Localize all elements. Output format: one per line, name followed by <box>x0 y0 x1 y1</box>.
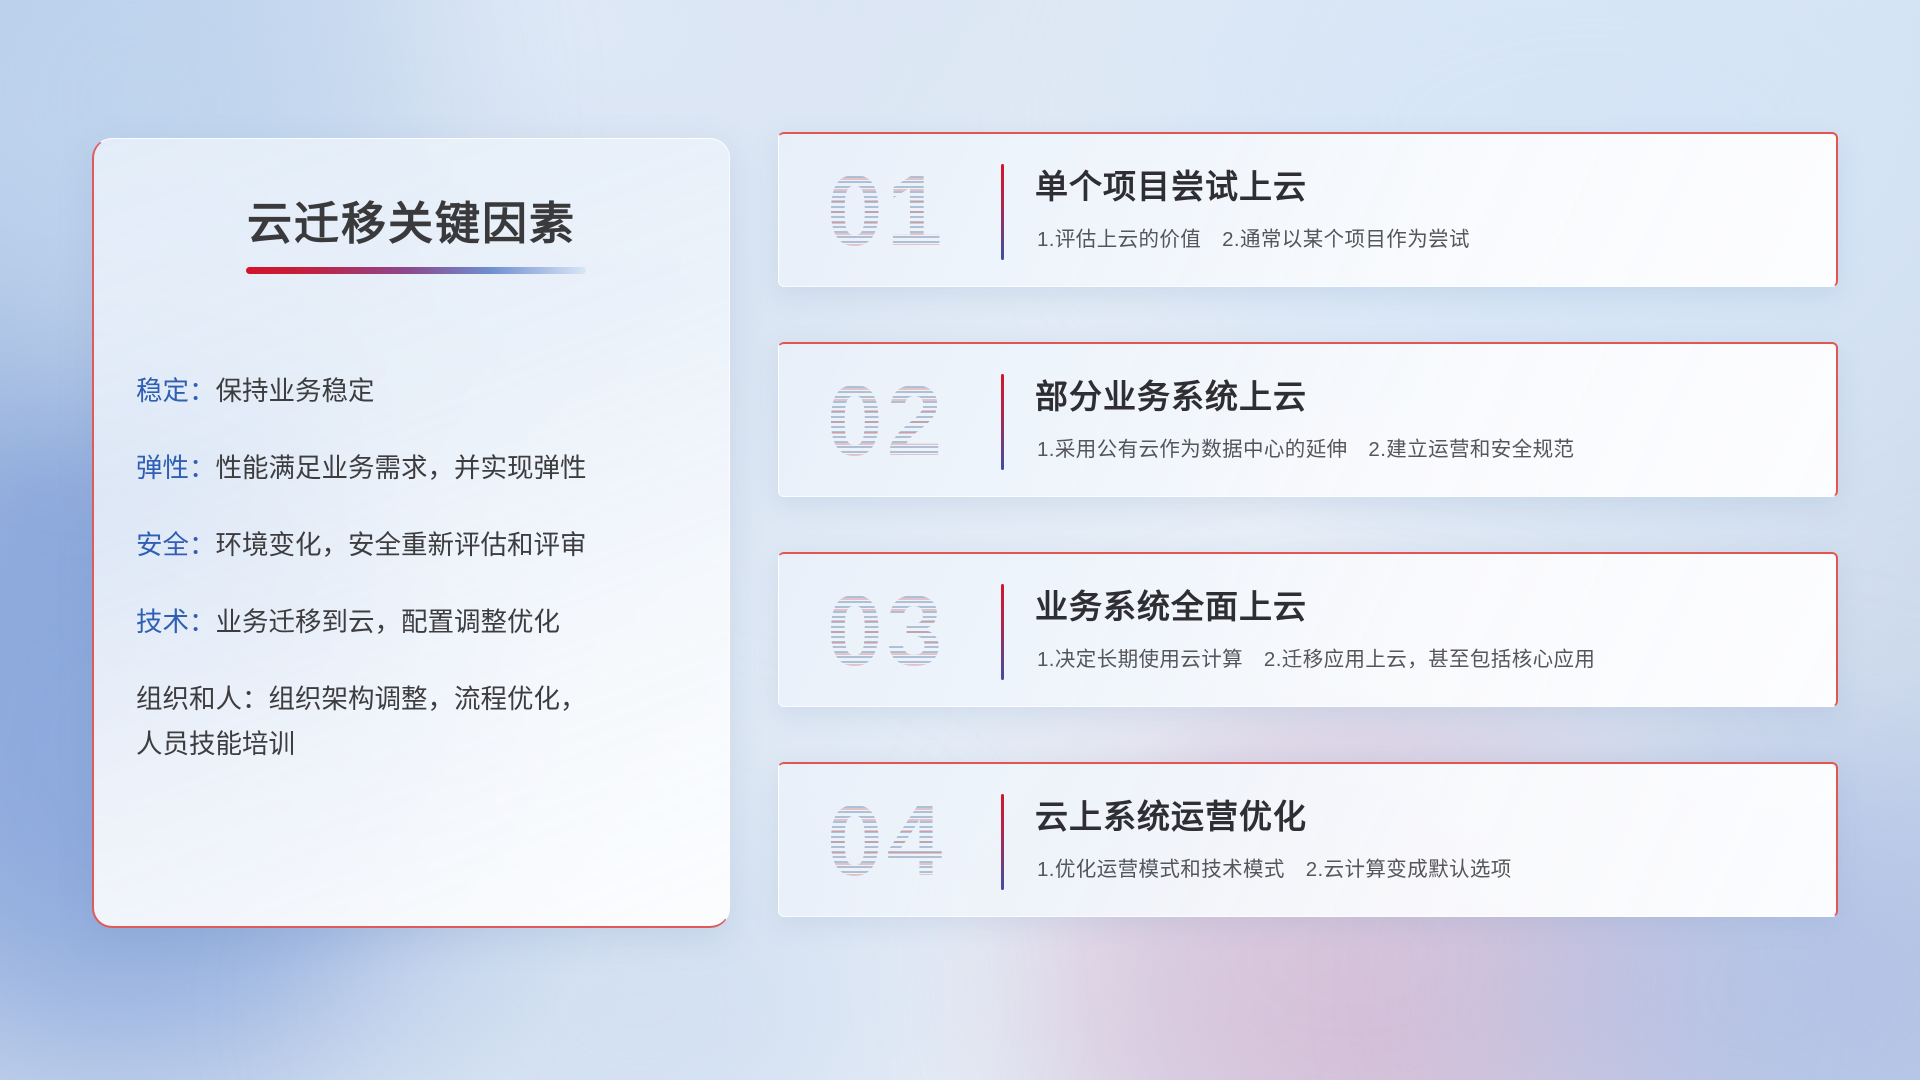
stage-description: 1.评估上云的价值 2.通常以某个项目作为尝试 <box>1037 222 1470 252</box>
factor-list: 稳定：保持业务稳定 弹性：性能满足业务需求，并实现弹性 安全：环境变化，安全重新… <box>136 371 699 801</box>
stage-number: 03 <box>827 576 946 686</box>
stage-divider-bar <box>1001 374 1004 470</box>
stage-divider-bar <box>1001 584 1004 680</box>
factor-label: 组织和人： <box>136 684 269 714</box>
factor-item-elasticity: 弹性：性能满足业务需求，并实现弹性 <box>136 448 699 489</box>
factor-text: 性能满足业务需求，并实现弹性 <box>216 453 587 483</box>
factor-label: 稳定： <box>136 376 216 406</box>
factor-text: 组织架构调整，流程优化， <box>269 684 587 714</box>
stage-card[interactable]: 04 04 云上系统运营优化 1.优化运营模式和技术模式 2.云计算变成默认选项 <box>778 762 1838 917</box>
stage-card-list: 01 01 单个项目尝试上云 1.评估上云的价值 2.通常以某个项目作为尝试 0… <box>778 132 1838 917</box>
factor-text: 业务迁移到云，配置调整优化 <box>216 607 561 637</box>
stage-heading: 单个项目尝试上云 <box>1035 160 1307 208</box>
stage-description: 1.采用公有云作为数据中心的延伸 2.建立运营和安全规范 <box>1037 432 1574 462</box>
stage-card[interactable]: 01 01 单个项目尝试上云 1.评估上云的价值 2.通常以某个项目作为尝试 <box>778 132 1838 287</box>
stage-number: 04 <box>827 786 946 896</box>
factor-item-security: 安全：环境变化，安全重新评估和评审 <box>136 525 699 566</box>
stage-heading: 云上系统运营优化 <box>1035 790 1307 838</box>
key-factors-panel: 云迁移关键因素 稳定：保持业务稳定 弹性：性能满足业务需求，并实现弹性 安全：环… <box>92 138 730 928</box>
factor-label: 技术： <box>136 607 216 637</box>
factor-text-continued: 人员技能培训 <box>136 729 295 759</box>
factor-item-organization-line2: 人员技能培训 <box>136 724 699 765</box>
slide-canvas: 云迁移关键因素 稳定：保持业务稳定 弹性：性能满足业务需求，并实现弹性 安全：环… <box>0 0 1920 1080</box>
stage-description: 1.优化运营模式和技术模式 2.云计算变成默认选项 <box>1037 852 1512 882</box>
stage-heading: 业务系统全面上云 <box>1035 580 1307 628</box>
factor-item-organization: 组织和人：组织架构调整，流程优化， <box>136 679 699 720</box>
stage-description: 1.决定长期使用云计算 2.迁移应用上云，甚至包括核心应用 <box>1037 642 1595 672</box>
stage-number: 01 <box>827 156 946 266</box>
factor-text: 保持业务稳定 <box>216 376 375 406</box>
stage-divider-bar <box>1001 164 1004 260</box>
stage-card[interactable]: 02 02 部分业务系统上云 1.采用公有云作为数据中心的延伸 2.建立运营和安… <box>778 342 1838 497</box>
title-underline-rule <box>246 267 586 274</box>
factor-text: 环境变化，安全重新评估和评审 <box>216 530 587 560</box>
factor-label: 弹性： <box>136 453 216 483</box>
stage-card[interactable]: 03 03 业务系统全面上云 1.决定长期使用云计算 2.迁移应用上云，甚至包括… <box>778 552 1838 707</box>
factor-item-technology: 技术：业务迁移到云，配置调整优化 <box>136 602 699 643</box>
factor-label: 安全： <box>136 530 216 560</box>
stage-heading: 部分业务系统上云 <box>1035 370 1307 418</box>
stage-divider-bar <box>1001 794 1004 890</box>
page-title: 云迁移关键因素 <box>94 187 729 252</box>
factor-item-stability: 稳定：保持业务稳定 <box>136 371 699 412</box>
stage-number: 02 <box>827 366 946 476</box>
